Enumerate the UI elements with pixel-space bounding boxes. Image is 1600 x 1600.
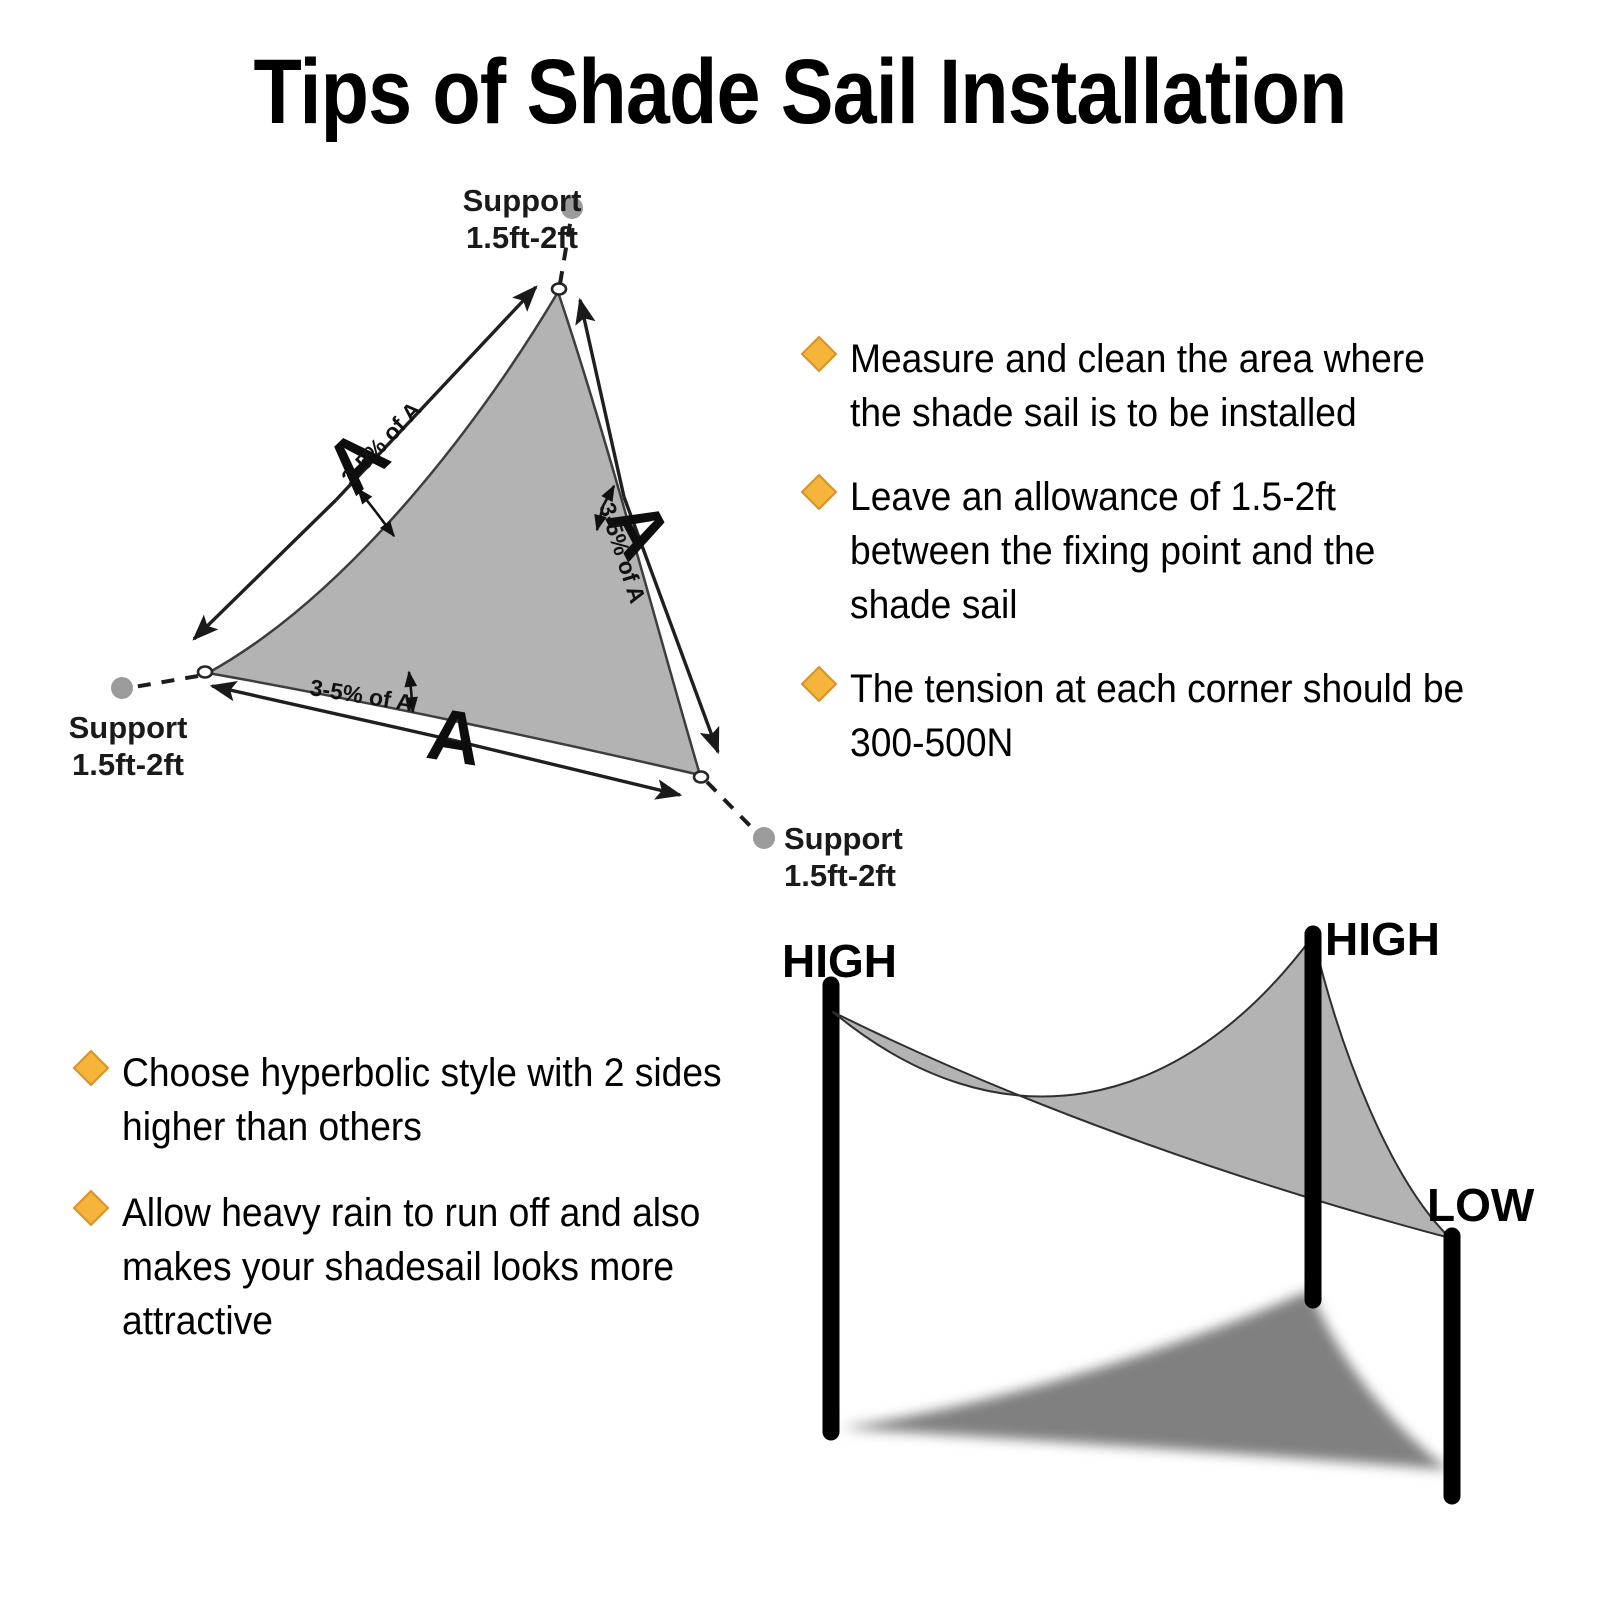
list-item: Leave an allowance of 1.5-2ft between th… bbox=[806, 470, 1526, 632]
allowance-label-bottom: 3-5% of A bbox=[308, 676, 414, 715]
page-title: Tips of Shade Sail Installation bbox=[112, 44, 1488, 140]
hyperbolic-sail-shape bbox=[833, 936, 1450, 1238]
pole-label-low: LOW bbox=[1427, 1182, 1534, 1228]
tip-text: The tension at each corner should be 300… bbox=[850, 662, 1479, 770]
tips-list-right: Measure and clean the area where the sha… bbox=[806, 332, 1526, 800]
tip-text: Choose hyperbolic style with 2 sides hig… bbox=[122, 1046, 732, 1154]
support-poles bbox=[831, 985, 1313, 1432]
support-label-bottom-right: Support 1.5ft-2ft bbox=[784, 820, 984, 894]
support-label-top: Support 1.5ft-2ft bbox=[432, 182, 612, 256]
list-item: Allow heavy rain to run off and also mak… bbox=[78, 1186, 778, 1348]
tip-text: Measure and clean the area where the sha… bbox=[850, 332, 1479, 440]
pole-label-high-right: HIGH bbox=[1325, 916, 1440, 962]
list-item: Choose hyperbolic style with 2 sides hig… bbox=[78, 1046, 778, 1154]
tip-text: Leave an allowance of 1.5-2ft between th… bbox=[850, 470, 1479, 632]
side-length-label-bottom: A bbox=[423, 696, 487, 777]
tips-list-left: Choose hyperbolic style with 2 sides hig… bbox=[78, 1046, 778, 1380]
diamond-bullet-icon bbox=[801, 666, 838, 703]
diamond-bullet-icon bbox=[801, 474, 838, 511]
diamond-bullet-icon bbox=[73, 1190, 110, 1227]
allowance-arrows bbox=[358, 486, 614, 712]
diamond-bullet-icon bbox=[801, 336, 838, 373]
list-item: Measure and clean the area where the sha… bbox=[806, 332, 1526, 440]
sail-ground-shadow bbox=[840, 1290, 1450, 1470]
diamond-bullet-icon bbox=[73, 1050, 110, 1087]
tip-text: Allow heavy rain to run off and also mak… bbox=[122, 1186, 732, 1348]
list-item: The tension at each corner should be 300… bbox=[806, 662, 1526, 770]
pole-label-high-left: HIGH bbox=[782, 938, 897, 984]
support-label-left: Support 1.5ft-2ft bbox=[38, 709, 218, 783]
